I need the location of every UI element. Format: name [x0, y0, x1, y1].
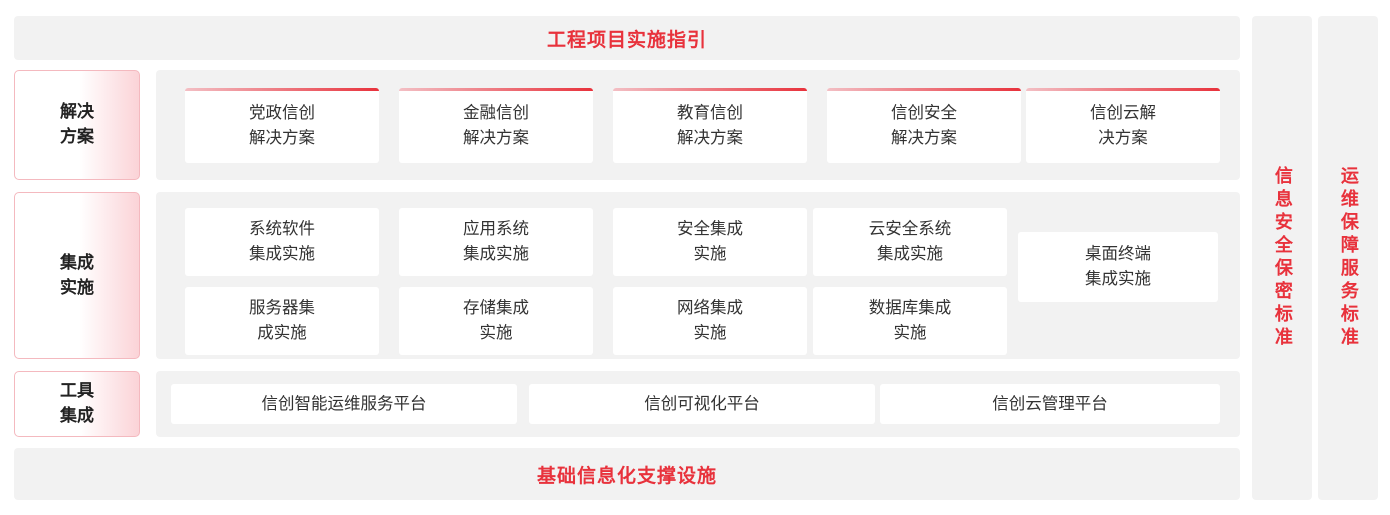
card-solution-5-text: 信创云解决方案: [1090, 101, 1156, 151]
card-tool-1[interactable]: 信创智能运维服务平台: [171, 384, 517, 424]
card-integration-bottom-2-text: 存储集成实施: [463, 296, 529, 346]
row-label-tools-text: 工具 集成: [60, 379, 94, 428]
card-solution-1-text: 党政信创解决方案: [249, 101, 315, 151]
card-integration-top-2-text: 应用系统集成实施: [463, 217, 529, 267]
card-tool-3-text: 信创云管理平台: [992, 392, 1108, 417]
card-integration-top-3[interactable]: 安全集成实施: [613, 208, 807, 276]
card-integration-bottom-3-text: 网络集成实施: [677, 296, 743, 346]
card-tool-1-text: 信创智能运维服务平台: [262, 392, 427, 417]
row-label-integration[interactable]: 集成 实施: [14, 192, 140, 359]
card-integration-top-4[interactable]: 云安全系统集成实施: [813, 208, 1007, 276]
card-integration-bottom-1-text: 服务器集成实施: [249, 296, 315, 346]
card-integration-top-1-text: 系统软件集成实施: [249, 217, 315, 267]
card-integration-desktop-terminal[interactable]: 桌面终端集成实施: [1018, 232, 1218, 302]
card-integration-bottom-1[interactable]: 服务器集成实施: [185, 287, 379, 355]
card-solution-4-text: 信创安全解决方案: [891, 101, 957, 151]
row-label-solutions-text: 解决 方案: [60, 100, 94, 149]
diagram-canvas: 工程项目实施指引 解决 方案 党政信创解决方案 金融信创解决方案 教育信创解决方…: [0, 0, 1390, 515]
row-label-tools[interactable]: 工具 集成: [14, 371, 140, 437]
card-solution-3[interactable]: 教育信创解决方案: [613, 88, 807, 163]
card-integration-top-3-text: 安全集成实施: [677, 217, 743, 267]
panel-security-standard: 信息安全保密标准: [1252, 16, 1312, 500]
card-integration-top-4-text: 云安全系统集成实施: [869, 217, 952, 267]
panel-security-standard-text: 信息安全保密标准: [1272, 166, 1292, 350]
card-tool-3[interactable]: 信创云管理平台: [880, 384, 1220, 424]
panel-ops-standard-text: 运维保障服务标准: [1338, 166, 1358, 350]
card-solution-2-text: 金融信创解决方案: [463, 101, 529, 151]
header-band: 工程项目实施指引: [14, 16, 1240, 60]
card-integration-desktop-terminal-text: 桌面终端集成实施: [1085, 242, 1151, 292]
footer-band: 基础信息化支撑设施: [14, 448, 1240, 500]
card-solution-5[interactable]: 信创云解决方案: [1026, 88, 1220, 163]
card-solution-2[interactable]: 金融信创解决方案: [399, 88, 593, 163]
card-solution-4[interactable]: 信创安全解决方案: [827, 88, 1021, 163]
row-label-integration-text: 集成 实施: [60, 251, 94, 300]
card-solution-3-text: 教育信创解决方案: [677, 101, 743, 151]
card-solution-1[interactable]: 党政信创解决方案: [185, 88, 379, 163]
card-integration-top-2[interactable]: 应用系统集成实施: [399, 208, 593, 276]
card-tool-2-text: 信创可视化平台: [644, 392, 760, 417]
card-tool-2[interactable]: 信创可视化平台: [529, 384, 875, 424]
card-integration-bottom-2[interactable]: 存储集成实施: [399, 287, 593, 355]
card-integration-bottom-4[interactable]: 数据库集成实施: [813, 287, 1007, 355]
panel-ops-standard: 运维保障服务标准: [1318, 16, 1378, 500]
card-integration-bottom-3[interactable]: 网络集成实施: [613, 287, 807, 355]
header-title: 工程项目实施指引: [547, 25, 707, 52]
footer-title: 基础信息化支撑设施: [537, 461, 717, 488]
row-label-solutions[interactable]: 解决 方案: [14, 70, 140, 180]
card-integration-top-1[interactable]: 系统软件集成实施: [185, 208, 379, 276]
card-integration-bottom-4-text: 数据库集成实施: [869, 296, 952, 346]
